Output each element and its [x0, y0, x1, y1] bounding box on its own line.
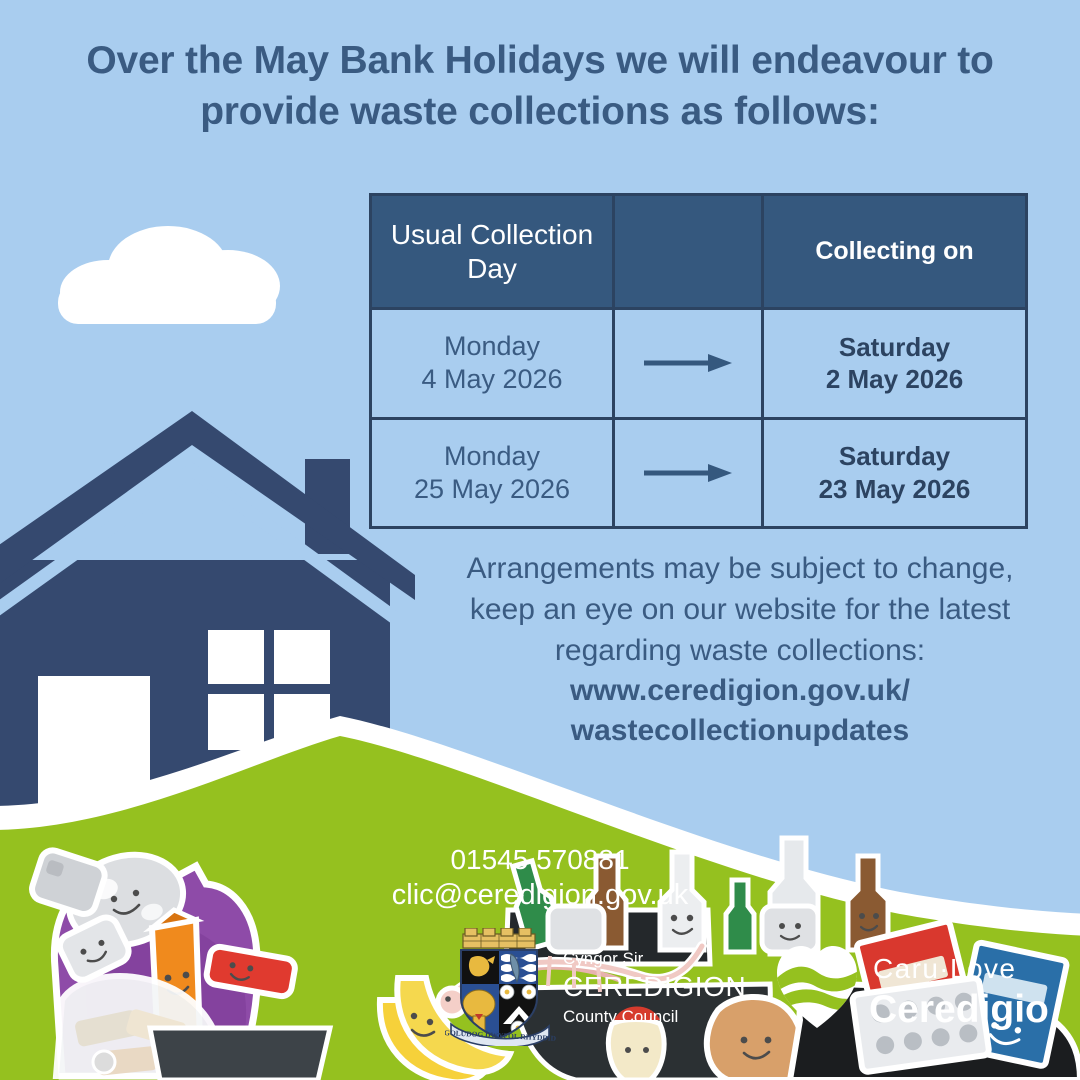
collections-table: Usual Collection Day Collecting on Monda… [369, 193, 1028, 529]
cell-usual-day-1: Monday 4 May 2026 [372, 310, 612, 416]
cell-collecting-on-2: Saturday 23 May 2026 [764, 420, 1025, 526]
table-header-row: Usual Collection Day Collecting on [372, 196, 1025, 307]
council-line-2: CEREDIGION [563, 971, 746, 1002]
note-line-2: keep an eye on our website for the lates… [470, 593, 1010, 626]
note-paragraph: Arrangements may be subject to change, k… [420, 548, 1060, 750]
table-row: Monday 25 May 2026 Saturday 23 May 2026 [372, 417, 1025, 526]
contact-block: 01545 570881 clic@ceredigion.gov.uk [330, 842, 750, 914]
collecting-day-label-1: Saturday [839, 332, 950, 362]
cloud-icon [58, 226, 280, 324]
collecting-date-label-1: 2 May 2026 [826, 364, 963, 394]
header-collecting-on: Collecting on [764, 196, 1025, 307]
ceredigion-county-council-logo: GOLUDOG DWYFOL RHYDDID Cyngor Sir CEREDI… [445, 928, 755, 1046]
table-row: Monday 4 May 2026 Saturday 2 May 2026 [372, 307, 1025, 416]
arrow-right-icon [642, 351, 734, 375]
usual-day-label-1: Monday [444, 331, 540, 361]
usual-date-label-1: 4 May 2026 [421, 364, 562, 394]
contact-phone[interactable]: 01545 570881 [330, 842, 750, 877]
note-line-3: regarding waste collections: [555, 634, 925, 667]
caru-line-2: Ceredigion [869, 988, 1050, 1031]
cell-usual-day-2: Monday 25 May 2026 [372, 420, 612, 526]
website-url-line-2[interactable]: wastecollectionupdates [420, 711, 1060, 751]
note-line-1: Arrangements may be subject to change, [467, 552, 1014, 585]
header-usual-collection-day: Usual Collection Day [372, 196, 612, 307]
poster-canvas: Over the May Bank Holidays we will endea… [0, 0, 1080, 1080]
cell-collecting-on-1: Saturday 2 May 2026 [764, 310, 1025, 416]
council-line-3: County Council [563, 1007, 678, 1026]
page-title: Over the May Bank Holidays we will endea… [50, 36, 1030, 137]
house-icon [0, 411, 415, 826]
collecting-date-label-2: 23 May 2026 [819, 474, 971, 504]
cell-arrow-2 [612, 420, 764, 526]
header-arrow-spacer [612, 196, 764, 307]
background-illustration [0, 0, 1080, 1080]
contact-email[interactable]: clic@ceredigion.gov.uk [330, 877, 750, 914]
arrow-right-icon [642, 461, 734, 485]
caru-line-1: Caru·Love [873, 953, 1016, 984]
usual-date-label-2: 25 May 2026 [414, 474, 570, 504]
website-url-line-1[interactable]: www.ceredigion.gov.uk/ [420, 671, 1060, 711]
caru-love-ceredigion-logo: Caru·Love Ceredigion [775, 940, 1050, 1035]
council-line-1: Cyngor Sir [563, 949, 644, 968]
cell-arrow-1 [612, 310, 764, 416]
usual-day-label-2: Monday [444, 441, 540, 471]
collecting-day-label-2: Saturday [839, 441, 950, 471]
